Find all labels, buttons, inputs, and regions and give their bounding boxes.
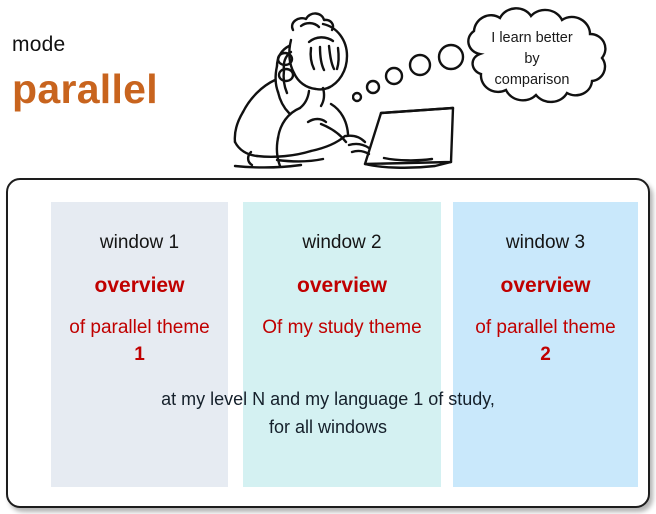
- window-3-title: window 3: [453, 232, 638, 254]
- window-1-emphasis: 1: [55, 341, 224, 368]
- window-2-subtitle-text: Of my study theme: [262, 317, 421, 338]
- window-2-subtitle: Of my study theme: [243, 314, 441, 341]
- thought-dot-2: [367, 81, 379, 93]
- bubble-line-2: by: [524, 51, 539, 67]
- thought-dot-1: [353, 93, 361, 101]
- window-column-3[interactable]: window 3 overview of parallel theme 2: [453, 202, 638, 487]
- thought-bubble-text: I learn better by comparison: [452, 28, 612, 91]
- window-3-overview-heading: overview: [453, 274, 638, 298]
- window-column-2[interactable]: window 2 overview Of my study theme: [243, 202, 441, 487]
- header-area: mode parallel: [0, 0, 656, 178]
- bubble-line-1: I learn better: [491, 30, 572, 46]
- window-1-overview-heading: overview: [51, 274, 228, 298]
- window-1-title: window 1: [51, 232, 228, 254]
- mode-value: parallel: [12, 66, 158, 113]
- window-3-subtitle-text: of parallel theme: [475, 317, 615, 338]
- thought-dot-4: [410, 55, 430, 75]
- parallel-mode-panel: window 1 overview of parallel theme 1 wi…: [6, 178, 650, 508]
- bubble-line-3: comparison: [495, 72, 570, 88]
- window-1-subtitle: of parallel theme 1: [51, 314, 228, 368]
- window-3-subtitle: of parallel theme 2: [453, 314, 638, 368]
- window-column-1[interactable]: window 1 overview of parallel theme 1: [51, 202, 228, 487]
- window-1-subtitle-text: of parallel theme: [69, 317, 209, 338]
- window-2-title: window 2: [243, 232, 441, 254]
- mode-label: mode: [12, 33, 65, 57]
- window-2-overview-heading: overview: [243, 274, 441, 298]
- window-3-emphasis: 2: [457, 341, 634, 368]
- thought-dot-3: [386, 68, 402, 84]
